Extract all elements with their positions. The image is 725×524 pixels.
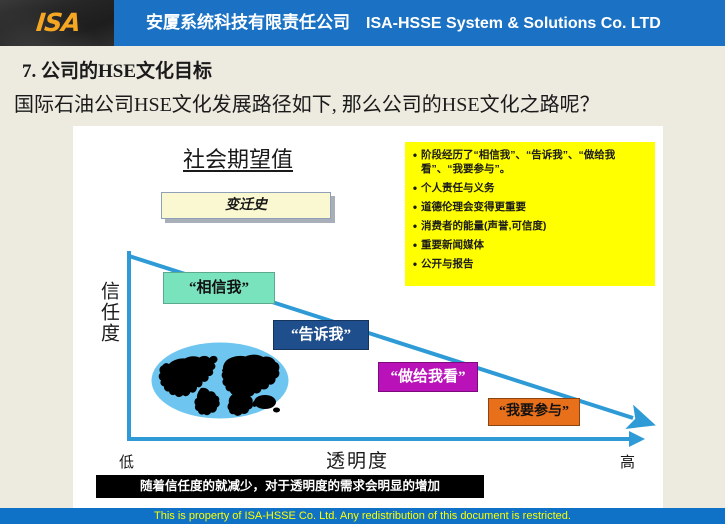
list-item-label: 重要新闻媒体 bbox=[421, 238, 651, 252]
list-item: • 重要新闻媒体 bbox=[409, 238, 651, 252]
x-axis-label: 透明度 bbox=[326, 446, 389, 473]
list-item-label: 消费者的能量(声誉,可信度) bbox=[421, 219, 651, 233]
footer-bar: This is property of ISA-HSSE Co. Ltd. An… bbox=[0, 508, 725, 524]
x-axis-line bbox=[127, 437, 633, 441]
header-title-panel: 安厦系统科技有限责任公司 ISA-HSSE System & Solutions… bbox=[114, 0, 725, 46]
slide-question: 国际石油公司HSE文化发展路径如下, 那么公司的HSE文化之路呢？ bbox=[14, 88, 600, 117]
bullet-dot-icon: • bbox=[409, 181, 421, 195]
slide-heading: 7. 公司的HSE文化目标 bbox=[22, 56, 212, 83]
list-item: • 公开与报告 bbox=[409, 257, 651, 271]
y-axis-line bbox=[127, 251, 131, 441]
stage-box-involve-me: “我要参与” bbox=[488, 398, 580, 426]
stage-box-tell-me: “告诉我” bbox=[273, 320, 369, 350]
bullet-dot-icon: • bbox=[409, 200, 421, 214]
bullet-dot-icon: • bbox=[409, 238, 421, 252]
diagram-panel: 社会期望值 变迁史 • 阶段经历了“相信我”、“告诉我”、“做给我看”、“我要参… bbox=[73, 126, 663, 508]
x-axis-high-label: 高 bbox=[620, 451, 635, 472]
list-item: • 个人责任与义务 bbox=[409, 181, 651, 195]
x-axis-arrowhead-icon bbox=[629, 431, 645, 447]
world-map-icon bbox=[151, 342, 289, 419]
list-item: • 消费者的能量(声誉,可信度) bbox=[409, 219, 651, 233]
header-title-chinese: 安厦系统科技有限责任公司 bbox=[146, 10, 350, 36]
list-item-label: 阶段经历了“相信我”、“告诉我”、“做给我看”、“我要参与”。 bbox=[421, 148, 651, 176]
x-axis-low-label: 低 bbox=[119, 451, 134, 472]
list-item: • 道德伦理会变得更重要 bbox=[409, 200, 651, 214]
history-label-box: 变迁史 bbox=[161, 192, 331, 219]
list-item-label: 道德伦理会变得更重要 bbox=[421, 200, 651, 214]
header-logo-panel: ISA bbox=[0, 0, 114, 46]
bullet-dot-icon: • bbox=[409, 257, 421, 271]
stage-box-show-me: “做给我看” bbox=[378, 362, 478, 392]
list-item: • 阶段经历了“相信我”、“告诉我”、“做给我看”、“我要参与”。 bbox=[409, 148, 651, 176]
footer-copyright-text: This is property of ISA-HSSE Co. Ltd. An… bbox=[0, 508, 725, 524]
isa-logo: ISA bbox=[23, 10, 94, 36]
y-axis-label: 信任度 bbox=[95, 281, 122, 344]
stage-box-trust-me: “相信我” bbox=[163, 272, 275, 304]
summary-banner: 随着信任度的就减少，对于透明度的需求会明显的增加 bbox=[96, 475, 484, 498]
header-title-english: ISA-HSSE System & Solutions Co. LTD bbox=[366, 11, 661, 37]
bullet-panel: • 阶段经历了“相信我”、“告诉我”、“做给我看”、“我要参与”。 • 个人责任… bbox=[405, 142, 655, 286]
diagram-title: 社会期望值 bbox=[183, 142, 293, 174]
app-header: ISA 安厦系统科技有限责任公司 ISA-HSSE System & Solut… bbox=[0, 0, 725, 46]
bullet-dot-icon: • bbox=[409, 148, 421, 162]
bullet-dot-icon: • bbox=[409, 219, 421, 233]
list-item-label: 个人责任与义务 bbox=[421, 181, 651, 195]
list-item-label: 公开与报告 bbox=[421, 257, 651, 271]
